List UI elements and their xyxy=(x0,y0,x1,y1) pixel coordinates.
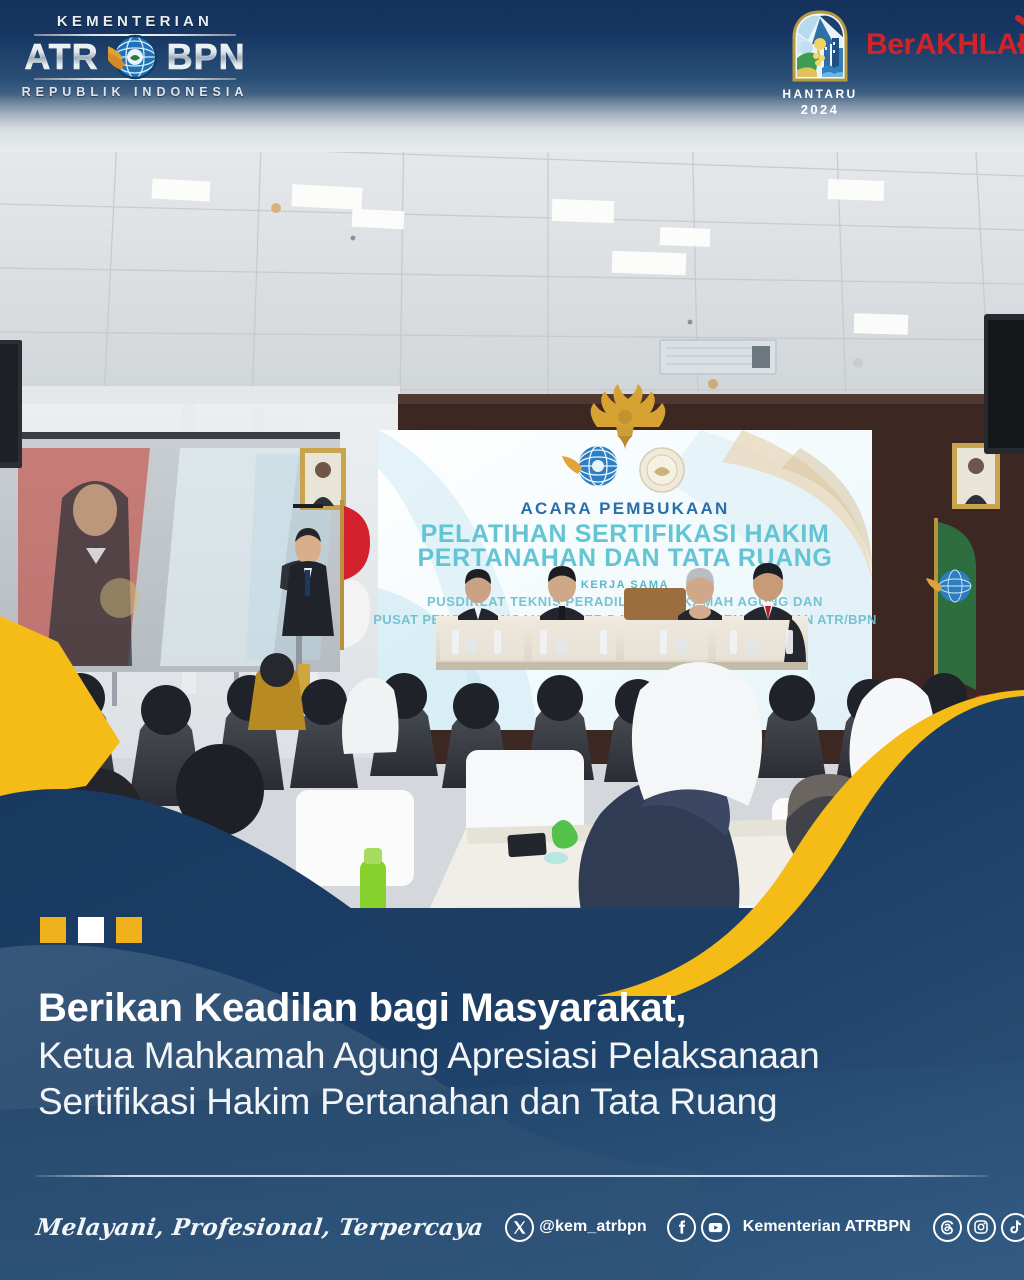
x-twitter-icon[interactable] xyxy=(505,1213,534,1242)
logo-word-bpn: BPN xyxy=(167,35,246,79)
berakhlak-label: BerAKHLAK xyxy=(866,28,1024,62)
footer-divider xyxy=(36,1175,988,1177)
facebook-icon[interactable] xyxy=(667,1213,696,1242)
berakhlak-logo: BerAKHLAK xyxy=(866,28,1024,62)
svg-text:ACARA PEMBUKAAN: ACARA PEMBUKAAN xyxy=(521,499,730,518)
headline-block: Berikan Keadilan bagi Masyarakat, Ketua … xyxy=(38,983,938,1125)
berakhlak-arrow-icon xyxy=(1010,15,1024,54)
hantaru-shield-icon xyxy=(788,10,852,84)
logo-word-atr: ATR xyxy=(24,35,98,79)
hantaru-logo: HANTARU 2024 xyxy=(778,10,862,117)
footer-tagline: Melayani, Profesional, Terpercaya xyxy=(34,1214,485,1241)
headline-secondary-line1: Ketua Mahkamah Agung Apresiasi Pelaksana… xyxy=(38,1033,938,1079)
accent-square-1 xyxy=(40,917,66,943)
poster-footer: Melayani, Profesional, Terpercaya @kem_a… xyxy=(0,1165,1024,1280)
social-group-meta[interactable]: @kementerian.atrbpn xyxy=(933,1213,1024,1242)
tiktok-icon[interactable] xyxy=(1001,1213,1024,1242)
ministry-logo-bottom-text: REPUBLIK INDONESIA xyxy=(20,85,250,99)
handle-x: @kem_atrbpn xyxy=(539,1218,646,1236)
ministry-logo-wordmark: ATR BPN xyxy=(20,33,250,81)
footer-row: Melayani, Profesional, Terpercaya @kem_a… xyxy=(36,1205,996,1249)
social-group-x[interactable]: @kem_atrbpn xyxy=(505,1213,646,1242)
accent-squares xyxy=(40,917,142,943)
globe-icon xyxy=(108,30,162,84)
handle-fb-yt: Kementerian ATRBPN xyxy=(743,1218,911,1236)
threads-icon[interactable] xyxy=(933,1213,962,1242)
poster-canvas: ACARA PEMBUKAAN PELATIHAN SERTIFIKASI HA… xyxy=(0,0,1024,1280)
youtube-icon[interactable] xyxy=(701,1213,730,1242)
ministry-logo: KEMENTERIAN ATR BPN xyxy=(20,8,250,108)
headline-primary: Berikan Keadilan bagi Masyarakat, xyxy=(38,983,938,1033)
poster-header: KEMENTERIAN ATR BPN xyxy=(0,0,1024,152)
accent-square-3 xyxy=(116,917,142,943)
hantaru-year: 2024 xyxy=(778,102,862,117)
ministry-logo-top-text: KEMENTERIAN xyxy=(20,13,250,30)
headline-secondary-line2: Sertifikasi Hakim Pertanahan dan Tata Ru… xyxy=(38,1079,938,1125)
hantaru-name: HANTARU xyxy=(778,87,862,101)
accent-square-2 xyxy=(78,917,104,943)
instagram-icon[interactable] xyxy=(967,1213,996,1242)
event-photo: ACARA PEMBUKAAN PELATIHAN SERTIFIKASI HA… xyxy=(0,118,1024,908)
social-group-fb-yt[interactable]: Kementerian ATRBPN xyxy=(667,1213,911,1242)
